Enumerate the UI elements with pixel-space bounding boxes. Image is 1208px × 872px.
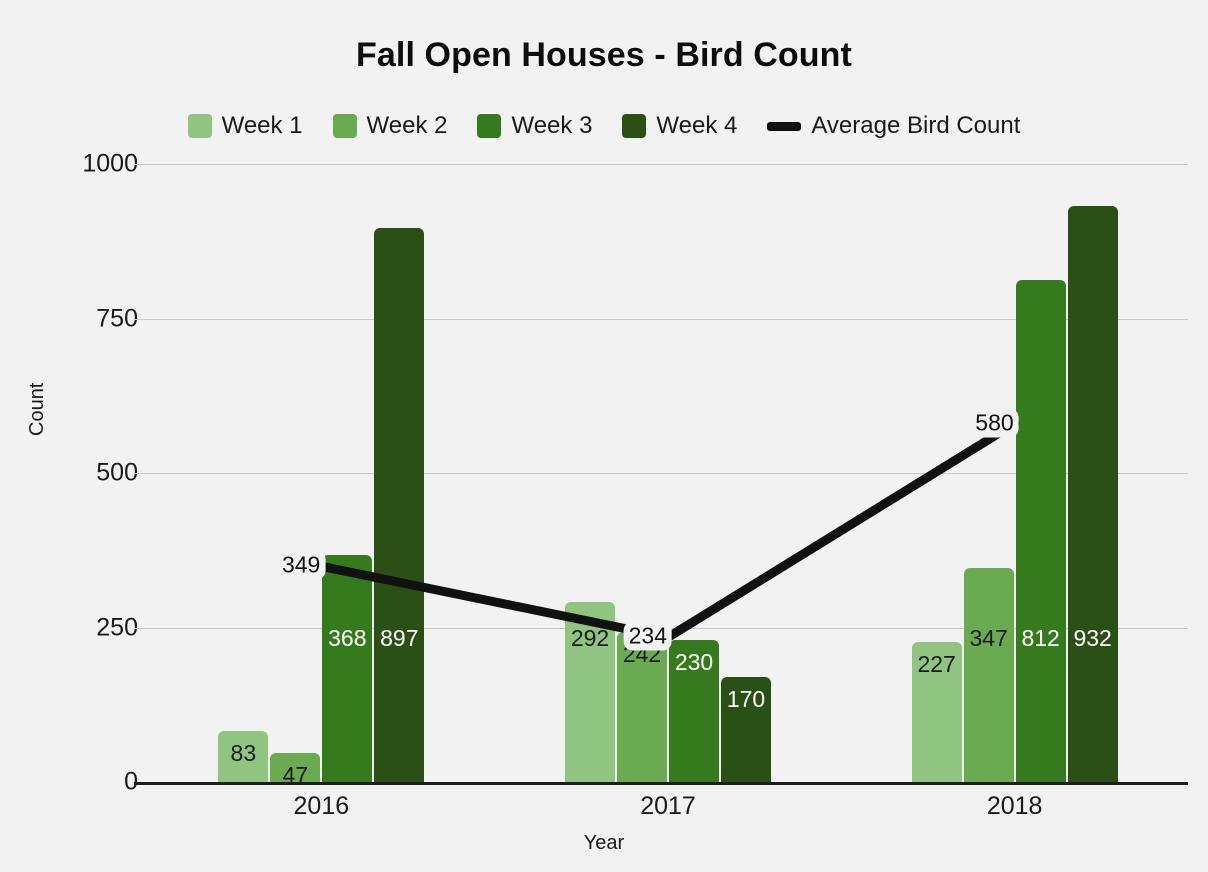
y-tick-mark <box>134 164 148 165</box>
bar[interactable]: 292 <box>565 602 615 782</box>
legend-label: Average Bird Count <box>811 112 1020 140</box>
x-tick-label: 2018 <box>987 792 1043 821</box>
bar-value-label: 83 <box>218 742 268 765</box>
bar[interactable]: 242 <box>617 632 667 782</box>
legend-item-week-1[interactable]: Week 1 <box>188 112 303 140</box>
bar-value-label: 368 <box>322 627 372 650</box>
y-tick-mark <box>134 319 148 320</box>
y-tick-label: 0 <box>58 768 138 797</box>
line-value-label: 234 <box>624 622 672 651</box>
color-swatch-icon <box>622 114 646 138</box>
chart-title: Fall Open Houses - Bird Count <box>0 36 1208 75</box>
bar-value-label: 170 <box>721 688 771 711</box>
bar[interactable]: 932 <box>1068 206 1118 782</box>
legend-label: Week 2 <box>367 112 448 140</box>
bar[interactable]: 347 <box>964 568 1014 782</box>
x-axis-line <box>148 782 1188 785</box>
y-tick-label: 500 <box>58 459 138 488</box>
bar-value-label: 932 <box>1068 627 1118 650</box>
y-tick-label: 750 <box>58 304 138 333</box>
y-tick-label: 1000 <box>58 150 138 179</box>
bar-value-label: 292 <box>565 627 615 650</box>
bar-value-label: 897 <box>374 627 424 650</box>
bar-value-label: 812 <box>1016 627 1066 650</box>
bar[interactable]: 230 <box>669 640 719 782</box>
x-tick-label: 2017 <box>640 792 696 821</box>
y-axis-title: Count <box>26 383 49 436</box>
y-tick-label: 250 <box>58 613 138 642</box>
legend-item-week-2[interactable]: Week 2 <box>333 112 448 140</box>
legend-item-week-3[interactable]: Week 3 <box>477 112 592 140</box>
gridline <box>148 164 1188 165</box>
legend-item-average-bird-count[interactable]: Average Bird Count <box>767 112 1020 140</box>
color-swatch-icon <box>333 114 357 138</box>
x-axis-title: Year <box>0 832 1208 855</box>
legend-label: Week 3 <box>511 112 592 140</box>
legend-label: Week 4 <box>656 112 737 140</box>
color-swatch-icon <box>188 114 212 138</box>
chart-legend: Week 1Week 2Week 3Week 4Average Bird Cou… <box>0 112 1208 140</box>
bar-value-label: 227 <box>912 653 962 676</box>
y-tick-mark <box>134 473 148 474</box>
bar-chart: Fall Open Houses - Bird Count Week 1Week… <box>0 0 1208 872</box>
bar-value-label: 347 <box>964 627 1014 650</box>
bar[interactable]: 812 <box>1016 280 1066 782</box>
x-tick-label: 2016 <box>294 792 350 821</box>
plot-area: 8347368897292242230170227347812932 34923… <box>148 164 1188 782</box>
bar[interactable]: 897 <box>374 228 424 782</box>
line-value-label: 580 <box>970 408 1018 437</box>
bar[interactable]: 227 <box>912 642 962 782</box>
bar-value-label: 230 <box>669 651 719 674</box>
bar[interactable]: 83 <box>218 731 268 782</box>
line-value-label: 349 <box>277 551 325 580</box>
legend-label: Week 1 <box>222 112 303 140</box>
legend-item-week-4[interactable]: Week 4 <box>622 112 737 140</box>
bar[interactable]: 170 <box>721 677 771 782</box>
bar[interactable]: 368 <box>322 555 372 782</box>
y-tick-mark <box>134 782 148 785</box>
y-tick-mark <box>134 628 148 629</box>
bar[interactable]: 47 <box>270 753 320 782</box>
line-marker-icon <box>767 122 801 131</box>
color-swatch-icon <box>477 114 501 138</box>
